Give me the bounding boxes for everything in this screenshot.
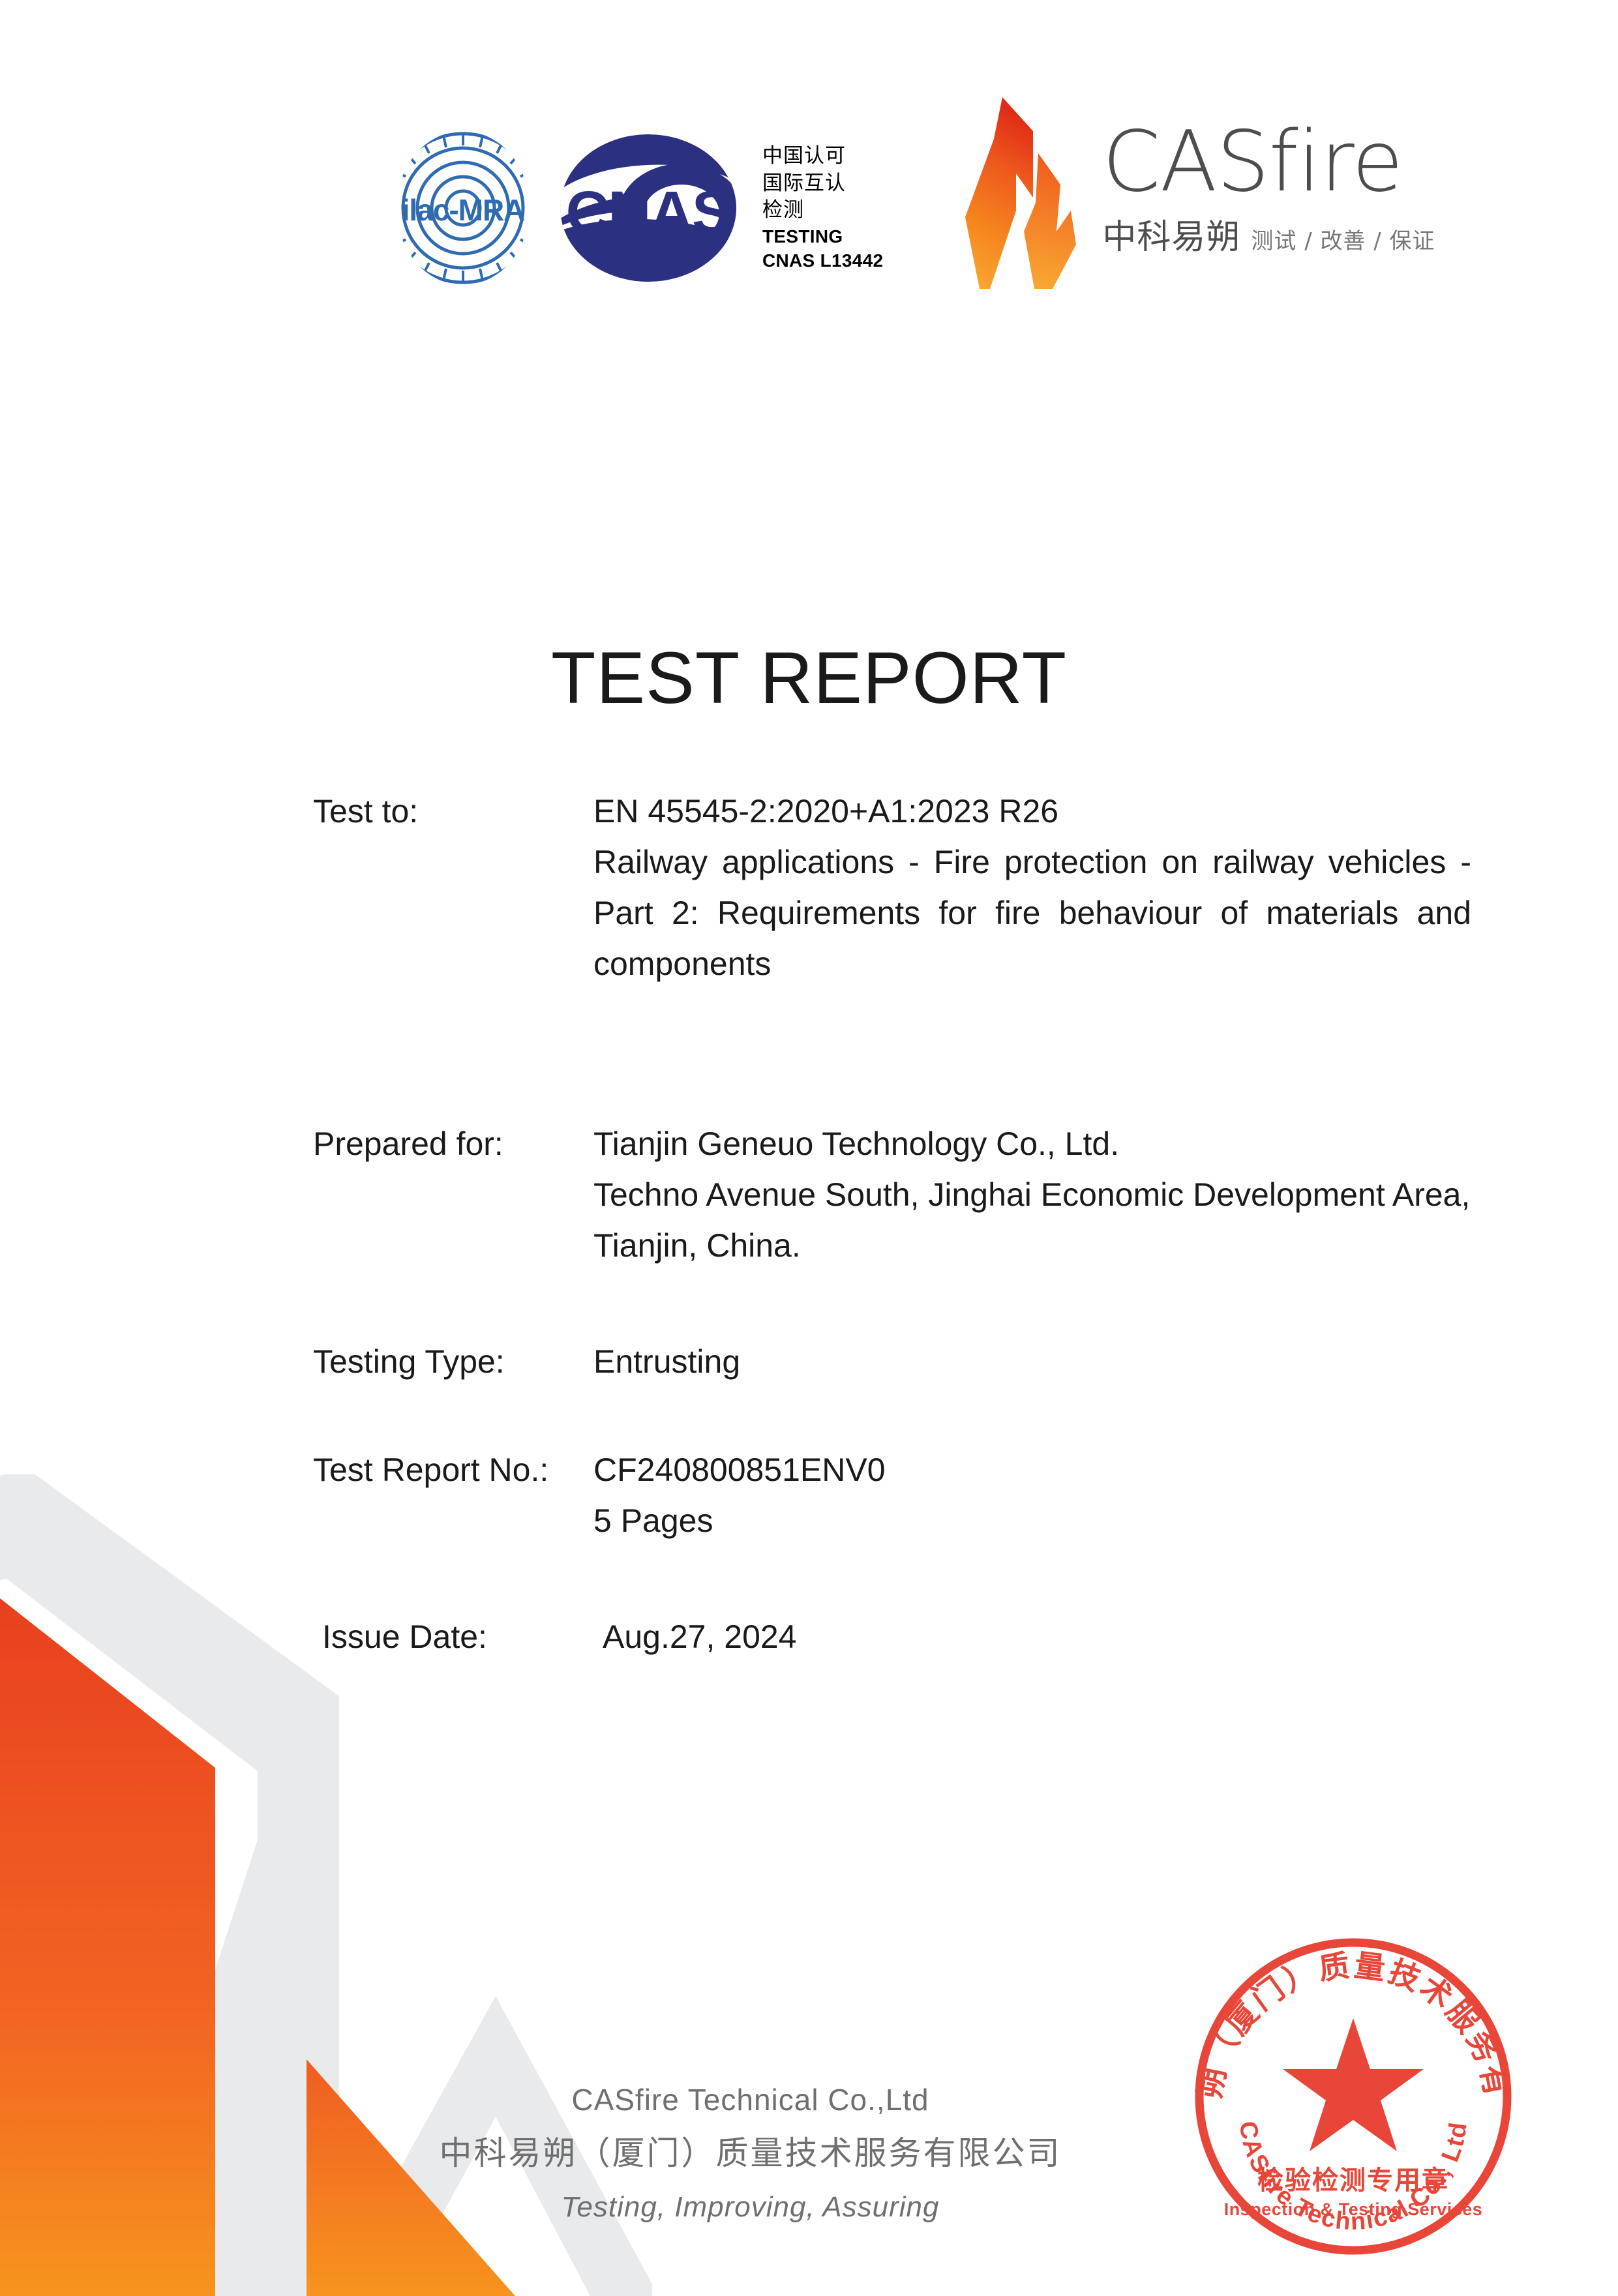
test-to-description: Railway applications - Fire protection o… bbox=[593, 837, 1471, 1040]
casfire-text-lockup: CASfire 中科易朔 测试 / 改善 / 保证 bbox=[1102, 121, 1435, 258]
casfire-chinese-name: 中科易朔 bbox=[1102, 209, 1240, 258]
ilac-mra-logo-icon: ilac-MRA bbox=[382, 130, 545, 286]
cnas-logo-icon: CNAS bbox=[554, 130, 743, 286]
field-test-to: Test to: EN 45545-2:2020+A1:2023 R26 Rai… bbox=[0, 786, 1618, 1040]
field-value-test-to: EN 45545-2:2020+A1:2023 R26 Railway appl… bbox=[593, 786, 1618, 1040]
svg-text:ilac-MRA: ilac-MRA bbox=[402, 193, 525, 227]
cnas-caption-line-3: 检测 bbox=[762, 197, 883, 224]
report-fields: Test to: EN 45545-2:2020+A1:2023 R26 Rai… bbox=[0, 786, 1618, 1662]
page-title-text: TEST REPORT bbox=[551, 637, 1067, 719]
casfire-tagline: 测试 / 改善 / 保证 bbox=[1251, 223, 1435, 255]
casfire-flame-icon bbox=[961, 93, 1085, 295]
field-issue-date: Issue Date: Aug.27, 2024 bbox=[0, 1611, 1618, 1662]
logo-row: ilac-MRA CNAS bbox=[382, 121, 1435, 295]
field-value-report-no: CF240800851ENV0 5 Pages bbox=[593, 1444, 1618, 1546]
field-value-issue-date: Aug.27, 2024 bbox=[603, 1611, 1618, 1662]
casfire-wordmark: CASfire bbox=[1102, 121, 1435, 204]
page-footer: CASfire Technical Co.,Ltd 中科易朔（厦门）质量技术服务… bbox=[0, 2074, 1618, 2233]
header-logo-strip: ilac-MRA CNAS bbox=[0, 0, 1618, 352]
cnas-accreditation-number: CNAS L13442 bbox=[762, 248, 883, 273]
cnas-accreditation-caption: 中国认可 国际互认 检测 TESTING CNAS L13442 bbox=[762, 130, 883, 286]
field-label-report-no: Test Report No.: bbox=[0, 1444, 593, 1495]
footer-company-en: CASfire Technical Co.,Ltd bbox=[0, 2074, 1559, 2125]
footer-company-cn: 中科易朔（厦门）质量技术服务有限公司 bbox=[0, 2125, 1559, 2181]
cnas-caption-testing: TESTING bbox=[762, 224, 883, 249]
page-title: TEST REPORT bbox=[0, 636, 1618, 720]
field-report-no: Test Report No.: CF240800851ENV0 5 Pages bbox=[0, 1444, 1618, 1546]
prepared-for-company: Tianjin Geneuo Technology Co., Ltd. bbox=[593, 1118, 1471, 1169]
field-value-prepared-for: Tianjin Geneuo Technology Co., Ltd. Tech… bbox=[593, 1118, 1618, 1271]
report-page-count: 5 Pages bbox=[593, 1495, 1471, 1546]
field-label-test-to: Test to: bbox=[0, 786, 593, 837]
footer-slogan: Testing, Improving, Assuring bbox=[0, 2181, 1559, 2233]
casfire-logo: CASfire 中科易朔 测试 / 改善 / 保证 bbox=[961, 121, 1435, 295]
cnas-caption-line-1: 中国认可 bbox=[762, 143, 883, 170]
prepared-for-address: Techno Avenue South, Jinghai Economic De… bbox=[593, 1169, 1471, 1271]
cnas-caption-line-2: 国际互认 bbox=[762, 170, 883, 198]
svg-text:CNAS: CNAS bbox=[566, 179, 731, 246]
report-number: CF240800851ENV0 bbox=[593, 1444, 1471, 1495]
test-to-standard: EN 45545-2:2020+A1:2023 R26 bbox=[593, 786, 1471, 837]
document-page: ilac-MRA CNAS bbox=[0, 0, 1618, 2296]
field-testing-type: Testing Type: Entrusting bbox=[0, 1336, 1618, 1387]
field-label-testing-type: Testing Type: bbox=[0, 1336, 593, 1387]
field-label-issue-date: Issue Date: bbox=[0, 1611, 603, 1662]
field-label-prepared-for: Prepared for: bbox=[0, 1118, 593, 1169]
field-value-testing-type: Entrusting bbox=[593, 1336, 1618, 1387]
field-prepared-for: Prepared for: Tianjin Geneuo Technology … bbox=[0, 1118, 1618, 1271]
